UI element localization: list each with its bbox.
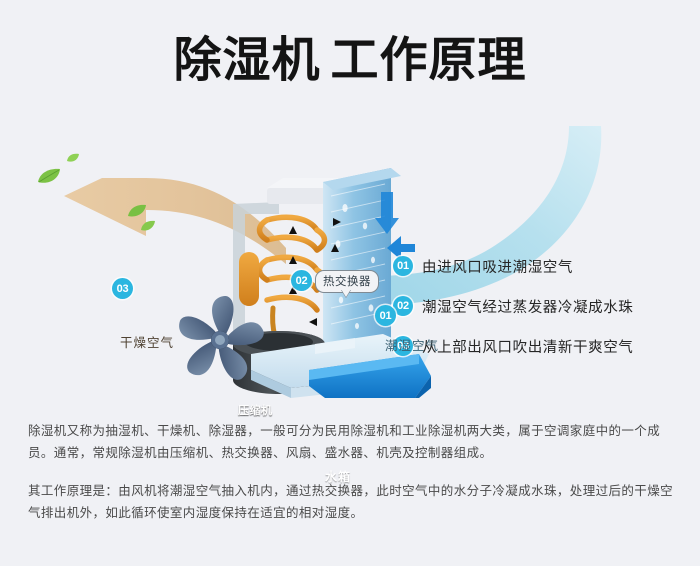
body-paragraph-1: 除湿机又称为抽湿机、干燥机、除湿器，一般可分为民用除湿机和工业除湿机两大类，属于… bbox=[28, 420, 678, 464]
compressor-label: 压缩机 bbox=[238, 402, 273, 418]
page-title: 除湿机工作原理 bbox=[0, 32, 700, 90]
step-label: 从上部出风口吹出清新干爽空气 bbox=[422, 336, 633, 357]
leaf-icon bbox=[36, 168, 62, 186]
water-tank-label: 水箱 bbox=[325, 468, 351, 485]
dry-air-label: 干燥空气 bbox=[120, 332, 174, 351]
leaf-icon bbox=[66, 153, 80, 164]
heat-exchanger-callout: 热交换器 bbox=[315, 270, 379, 293]
step-item: 02 潮湿空气经过蒸发器冷凝成水珠 bbox=[393, 295, 693, 317]
steps-list: 01 由进风口吸进潮湿空气 02 潮湿空气经过蒸发器冷凝成水珠 03 从上部出风… bbox=[393, 255, 693, 375]
step-item: 01 由进风口吸进潮湿空气 bbox=[393, 255, 693, 277]
humid-air-label: 潮湿空气 bbox=[385, 335, 439, 354]
step-label: 由进风口吸进潮湿空气 bbox=[422, 256, 573, 277]
page-title-sub: 工作原理 bbox=[331, 34, 527, 87]
body-copy: 除湿机又称为抽湿机、干燥机、除湿器，一般可分为民用除湿机和工业除湿机两大类，属于… bbox=[28, 420, 678, 524]
body-paragraph-2: 其工作原理是：由风机将潮湿空气抽入机内，通过热交换器，此时空气中的水分子冷凝成水… bbox=[28, 480, 678, 524]
badge-dry-air: 03 bbox=[112, 278, 133, 299]
leaf-icon bbox=[127, 204, 147, 219]
fan-icon bbox=[172, 292, 268, 388]
infographic-page: 除湿机工作原理 bbox=[0, 0, 700, 566]
step-badge: 02 bbox=[393, 296, 413, 316]
page-title-main: 除湿机 bbox=[173, 34, 320, 87]
step-badge: 01 bbox=[393, 256, 413, 276]
callout-tail bbox=[341, 289, 351, 297]
leaf-icon bbox=[140, 220, 156, 233]
step-label: 潮湿空气经过蒸发器冷凝成水珠 bbox=[422, 296, 633, 317]
badge-humid-air: 01 bbox=[375, 305, 396, 326]
badge-heat-exchanger: 02 bbox=[291, 270, 312, 291]
